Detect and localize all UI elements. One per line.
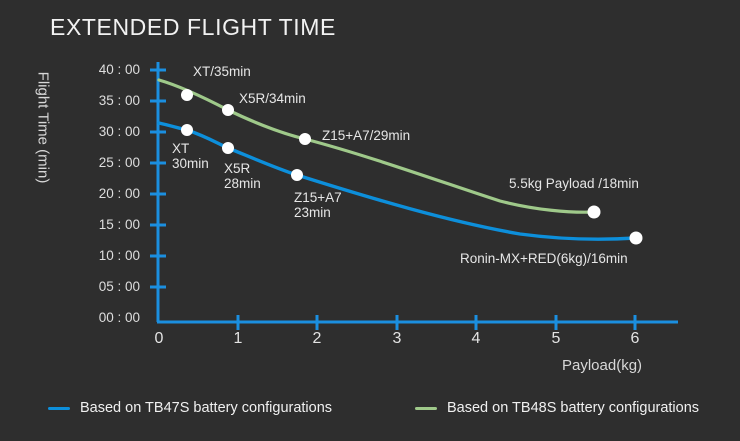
y-tick-label: 35 : 00 xyxy=(78,93,140,108)
data-point[interactable] xyxy=(630,232,643,245)
x-tick-label: 1 xyxy=(226,330,250,348)
legend-item-tb47s[interactable]: Based on TB47S battery configurations xyxy=(48,400,332,416)
annotation-x5r-28min-line1: X5R xyxy=(224,161,250,176)
legend-label: Based on TB48S battery configurations xyxy=(447,400,699,416)
legend-item-tb48s[interactable]: Based on TB48S battery configurations xyxy=(415,400,699,416)
x-tick-label: 4 xyxy=(464,330,488,348)
data-point[interactable] xyxy=(181,89,193,101)
axis-lines xyxy=(157,62,678,322)
data-point[interactable] xyxy=(291,169,303,181)
y-axis-title: Flight Time (min) xyxy=(35,58,52,198)
y-tick-label: 25 : 00 xyxy=(78,155,140,170)
data-point[interactable] xyxy=(588,206,601,219)
y-tick-label: 20 : 00 xyxy=(78,186,140,201)
y-tick-label: 40 : 00 xyxy=(78,62,140,77)
annotation-x5r-34min: X5R/34min xyxy=(239,91,306,106)
legend-swatch-icon xyxy=(48,407,70,410)
annotation-payload-18min: 5.5kg Payload /18min xyxy=(509,176,639,191)
y-tick-label: 10 : 00 xyxy=(78,248,140,263)
data-point[interactable] xyxy=(181,124,193,136)
annotation-z15a7-23min-line2: 23min xyxy=(294,205,331,220)
annotation-ronin-16min: Ronin-MX+RED(6kg)/16min xyxy=(460,251,628,266)
y-tick-label: 05 : 00 xyxy=(78,279,140,294)
annotation-z15a7-29min: Z15+A7/29min xyxy=(322,128,410,143)
x-tick-label: 2 xyxy=(305,330,329,348)
y-tick-label: 15 : 00 xyxy=(78,217,140,232)
x-tick-label: 3 xyxy=(385,330,409,348)
annotation-xt-30min-line1: XT xyxy=(172,141,189,156)
annotation-xt-30min-line2: 30min xyxy=(172,156,209,171)
legend-swatch-icon xyxy=(415,407,437,410)
annotation-z15a7-23min-line1: Z15+A7 xyxy=(294,190,342,205)
legend-label: Based on TB47S battery configurations xyxy=(80,400,332,416)
x-axis-title: Payload(kg) xyxy=(562,357,642,374)
data-point[interactable] xyxy=(299,133,311,145)
x-tick-label: 0 xyxy=(147,330,171,348)
x-tick-label: 5 xyxy=(544,330,568,348)
data-point[interactable] xyxy=(222,142,234,154)
x-tick-label: 6 xyxy=(623,330,647,348)
y-tick-label: 30 : 00 xyxy=(78,124,140,139)
annotation-x5r-28min-line2: 28min xyxy=(224,176,261,191)
chart-legend: Based on TB47S battery configurations Ba… xyxy=(0,398,740,424)
data-point[interactable] xyxy=(222,104,234,116)
chart-page: EXTENDED FLIGHT TIME xyxy=(0,0,740,441)
y-tick-label: 00 : 00 xyxy=(78,310,140,325)
annotation-xt-35min: XT/35min xyxy=(193,64,251,79)
